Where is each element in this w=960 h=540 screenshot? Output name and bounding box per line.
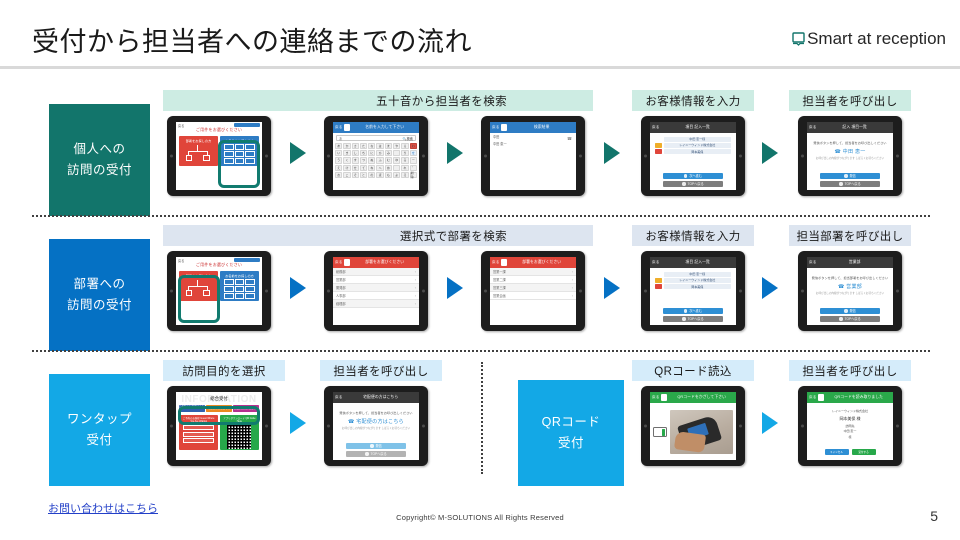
result-body: 中田 中田 恵一 ☎ — [490, 133, 576, 190]
tile-department[interactable]: 部署をお探しの方 — [179, 136, 218, 166]
dial-button[interactable]: 発信 — [820, 173, 880, 179]
call-buttons: 発信 TOPへ戻る — [820, 173, 880, 187]
call-sub: お呼び出しの内線がつながります しばらくお待ちください — [337, 427, 415, 431]
org-chart-icon — [185, 145, 212, 163]
category-line-2: 受付 — [86, 430, 112, 451]
list-item[interactable]: 開発部› — [333, 284, 419, 292]
list-item[interactable]: 営業三課› — [490, 284, 576, 292]
button-label: TOPへ戻る — [845, 181, 861, 186]
step-band-search-kana: 五十音から担当者を検索 — [163, 90, 593, 111]
tile-caption: お名前をお探しの方 — [220, 136, 259, 143]
tablet-qr-reader[interactable]: 戻る QRコードをかざして下さい — [641, 386, 745, 466]
screen-title: 項目 記入一覧 — [661, 260, 734, 265]
step-band-label: お客様情報を入力 — [645, 93, 740, 109]
category-line-1: 個人への — [73, 139, 125, 160]
call-body: 発信ボタンを押して、担当部署をお呼び出しください ☎ 営業部 お呼び出しの内線が… — [807, 268, 893, 325]
page-number: 5 — [930, 508, 938, 524]
hand-shape — [674, 431, 707, 453]
screen-call: 戻る 記入 項目一覧 発信ボタンを押して、担当者をお呼び出しください ☎ 中田 … — [807, 122, 893, 190]
keyboard-body: あ 🔍検索 あかさたなはまやらわ いきしちにひみりを うくすつぬふむゆるー えけ… — [333, 133, 419, 190]
search-button[interactable]: 🔍検索 — [403, 136, 413, 141]
tile-caption: 部署をお探しの方 — [179, 136, 218, 143]
tablet-department-list[interactable]: 戻る 部署をお選びください 総務部› 営業部› 開発部› 人事部› 経理部› — [324, 251, 428, 331]
row-divider-1 — [32, 215, 930, 217]
tablet-qr-confirm[interactable]: 戻る QRコードを読み取りました レイニーウィンド株式会社 岡本美保 様 訪問先… — [798, 386, 902, 466]
chevron-right-icon: › — [572, 278, 573, 282]
field-value[interactable]: 岡本美保 — [664, 149, 732, 154]
tablet-call-person[interactable]: 戻る 記入 項目一覧 発信ボタンを押して、担当者をお呼び出しください ☎ 中田 … — [798, 116, 902, 196]
bullet-icon — [370, 444, 373, 447]
pane-app-download: アプリダウンロード QR Code Here — [220, 415, 259, 450]
camera-preview — [670, 410, 733, 454]
tablet-call-delivery[interactable]: 戻る 宅配便の方はこちら 発信ボタンを押して、担当者をお呼び出しください ☎ 宅… — [324, 386, 428, 466]
category-label-onetap: ワンタップ 受付 — [49, 374, 150, 486]
flow-row-personal: 個人への 訪問の受付 五十音から担当者を検索 お客様情報を入力 担当者を呼び出し… — [0, 90, 960, 216]
purpose-button-delivery[interactable]: 宅配便の方はこちら — [206, 405, 232, 412]
top-button[interactable]: TOPへ戻る — [820, 181, 880, 187]
brand-name: Smart at reception — [807, 29, 946, 49]
step-band-label: 訪問目的を選択 — [182, 363, 265, 379]
list-icon — [501, 124, 507, 131]
button-label: TOPへ戻る — [688, 316, 704, 321]
tablet-one-tap-reception[interactable]: INFORMATION 総合受付 ご予約のお客様はこちら 宅配便の方はこちら 営… — [167, 386, 271, 466]
confirm-company: レイニーウィンド株式会社 — [815, 409, 885, 415]
back-button[interactable]: 戻る — [809, 395, 816, 400]
screen-titlebar: 戻る 宅配便の方はこちら — [333, 392, 419, 403]
step-band-label: 五十音から担当者を検索 — [376, 93, 507, 109]
search-input[interactable]: あ 🔍検索 — [336, 135, 416, 141]
call-body: 発信ボタンを押して、担当者をお呼び出しください ☎ 中田 恵一 お呼び出しの内線… — [807, 133, 893, 190]
field-value[interactable]: 中田 恵一様 — [664, 137, 732, 142]
status-pill — [234, 258, 260, 262]
bullet-icon — [839, 317, 842, 320]
screen-title: QRコードを読み取りました — [826, 395, 891, 400]
screen-home: 戻る ご用件をお選びください 部署をお探しの方 — [176, 122, 262, 190]
next-button[interactable]: 次へ進む — [663, 173, 723, 179]
info-panes: ご予約のお客様 Guest Where You Are Waiting アプリダ… — [176, 412, 262, 452]
button-label: 次へ進む — [689, 308, 702, 313]
flow-arrow — [290, 142, 306, 164]
flow-arrow — [290, 412, 306, 434]
back-label[interactable]: 戻る — [178, 258, 184, 263]
pane-guest: ご予約のお客様 Guest Where You Are Waiting — [179, 415, 218, 450]
screen-title: QRコードをかざして下さい — [669, 395, 734, 400]
form-fields: 中田 恵一様 レイニーウィンド株式会社 岡本美保 — [650, 268, 736, 289]
list-item-label: 人事部 — [336, 293, 346, 298]
list-item[interactable]: 営業一課› — [490, 268, 576, 276]
home-tiles: 部署をお探しの方 お名前をお探しの方 — [176, 268, 262, 301]
home-tiles: 部署をお探しの方 お名前をお探しの方 — [176, 133, 262, 166]
form-row: 岡本美保 — [655, 284, 731, 289]
next-button[interactable]: 次へ進む — [663, 308, 723, 314]
field-tag-required — [655, 278, 662, 282]
button-label: 発信 — [850, 308, 856, 313]
step-band-call-person: 担当者を呼び出し — [789, 90, 911, 111]
screen-list: 戻る 部署をお選びください 総務部› 営業部› 開発部› 人事部› 経理部› — [333, 257, 419, 325]
category-line-2: 訪問の受付 — [67, 160, 132, 181]
form-fields: 中田 恵一様 レイニーウィンド株式会社 岡本美保 — [650, 133, 736, 154]
screen-titlebar: 戻る 名前を入力して下さい — [333, 122, 419, 133]
department-list: 総務部› 営業部› 開発部› 人事部› 経理部› — [333, 268, 419, 308]
flow-arrow — [447, 142, 463, 164]
call-lead: 発信ボタンを押して、担当者をお呼び出しください — [337, 410, 415, 415]
list-item[interactable]: 総務部› — [333, 268, 419, 276]
flow-arrow — [604, 277, 620, 299]
pane-rows — [181, 425, 216, 443]
screen-title: 記入 項目一覧 — [818, 125, 891, 130]
qr-scan-icon — [818, 394, 824, 401]
screen-title: 検索結果 — [509, 125, 574, 130]
button-label: TOPへ戻る — [688, 181, 704, 186]
list-item-label: 経理部 — [336, 301, 346, 306]
phone-scan-icon — [653, 427, 667, 437]
screen-result: 戻る 検索結果 中田 中田 恵一 ☎ — [490, 122, 576, 190]
screen-title: 名前を入力して下さい — [352, 125, 417, 130]
pane-caption: ご予約のお客様 Guest Where You Are Waiting — [181, 417, 216, 424]
top-button[interactable]: TOPへ戻る — [346, 451, 406, 457]
back-button[interactable]: 戻る — [335, 125, 342, 130]
form-row: レイニーウィンド株式会社 — [655, 278, 731, 283]
qr-scan-area — [650, 403, 736, 460]
list-item-label: 営業企画 — [493, 293, 506, 298]
step-band-select-department: 選択式で部署を検索 — [163, 225, 593, 246]
tablet-kana-keyboard[interactable]: 戻る 名前を入力して下さい あ 🔍検索 あかさたなはまやらわ いきしちにひみりを… — [324, 116, 428, 196]
chevron-right-icon: › — [415, 294, 416, 298]
flow-row-department: 部署への 訪問の受付 選択式で部署を検索 お客様情報を入力 担当部署を呼び出し … — [0, 225, 960, 351]
category-label-qr: QRコード 受付 — [518, 380, 624, 486]
screen-one-tap: INFORMATION 総合受付 ご予約のお客様はこちら 宅配便の方はこちら 営… — [176, 392, 262, 460]
qr-code-icon — [227, 425, 251, 449]
call-info: 発信ボタンを押して、担当者をお呼び出しください ☎ 宅配便の方はこちら お呼び出… — [333, 403, 419, 431]
back-button[interactable]: 戻る — [492, 125, 499, 130]
one-tap-wrap: INFORMATION 総合受付 ご予約のお客様はこちら 宅配便の方はこちら 営… — [176, 392, 262, 460]
header-divider — [0, 66, 960, 69]
field-tag — [655, 272, 662, 276]
screen-titlebar: 戻る 部署をお選びください — [490, 257, 576, 268]
tile-caption: お名前をお探しの方 — [220, 271, 259, 278]
screen-titlebar: 戻る 記入 項目一覧 — [807, 122, 893, 133]
screen-titlebar: 戻る 検索結果 — [490, 122, 576, 133]
field-value[interactable]: 中田 恵一様 — [664, 272, 732, 277]
slide-header: 受付から担当者への連絡までの流れ Smart at reception — [0, 0, 960, 68]
category-line-1: QRコード — [542, 412, 601, 433]
form-row: 中田 恵一様 — [655, 137, 731, 142]
list-item-label: 総務部 — [336, 269, 346, 274]
list-item[interactable]: 営業二課› — [490, 276, 576, 284]
field-value[interactable]: レイニーウィンド株式会社 — [664, 143, 732, 148]
screen-call: 戻る 営業部 発信ボタンを押して、担当部署をお呼び出しください ☎ 営業部 お呼… — [807, 257, 893, 325]
confirm-button[interactable]: 受付する — [852, 449, 876, 455]
tablet-call-department[interactable]: 戻る 営業部 発信ボタンを押して、担当部署をお呼び出しください ☎ 営業部 お呼… — [798, 251, 902, 331]
step-band-label: 担当者を呼び出し — [802, 363, 897, 379]
list-item-label: 営業二課 — [493, 277, 506, 282]
flow-arrow — [290, 277, 306, 299]
screen-title: 宅配便の方はこちら — [344, 395, 417, 400]
dial-button[interactable]: 発信 — [820, 308, 880, 314]
flow-arrow — [447, 277, 463, 299]
tile-caption: 部署をお探しの方 — [179, 271, 218, 278]
reception-title: 総合受付 — [176, 392, 262, 402]
button-label: 発信 — [850, 173, 856, 178]
form-body: 中田 恵一様 レイニーウィンド株式会社 岡本美保 — [650, 133, 736, 190]
screen-title: 部署をお選びください — [352, 260, 417, 265]
search-value: あ — [339, 136, 342, 141]
department-sublist: 営業一課› 営業二課› 営業三課› 営業企画› — [490, 268, 576, 300]
step-band-select-purpose: 訪問目的を選択 — [163, 360, 285, 381]
call-target: ☎ 中田 恵一 — [811, 148, 889, 155]
screen-form: 戻る 項目 記入一覧 中田 恵一様 レイニーウィンド株式会社 — [650, 122, 736, 190]
chevron-right-icon: › — [415, 278, 416, 282]
result-line-1: 中田 — [490, 133, 576, 140]
kana-icon — [344, 124, 350, 131]
step-band-label: QRコード読込 — [654, 363, 732, 379]
top-button[interactable]: TOPへ戻る — [820, 316, 880, 322]
org-chart-icon — [185, 280, 212, 298]
screen-home: 戻る ご用件をお選びください 部署をお探しの方 — [176, 257, 262, 325]
field-tag-required — [655, 149, 662, 153]
top-button[interactable]: TOPへ戻る — [663, 316, 723, 322]
back-button[interactable]: 戻る — [652, 125, 659, 130]
qr-confirm-body: レイニーウィンド株式会社 岡本美保 様 訪問先 中田 恵一 様 キャンセル 受付… — [807, 403, 893, 460]
back-button[interactable]: 戻る — [652, 260, 659, 265]
button-label: TOPへ戻る — [371, 451, 387, 456]
call-buttons: 発信 TOPへ戻る — [346, 443, 406, 457]
chevron-right-icon: › — [415, 302, 416, 306]
purpose-button-reserved[interactable]: ご予約のお客様はこちら — [179, 405, 205, 412]
list-item-label: 開発部 — [336, 285, 346, 290]
tile-person[interactable]: お名前をお探しの方 — [220, 271, 259, 301]
tablet-visitor-form-department[interactable]: 戻る 項目 記入一覧 中田 恵一様 レイニーウィンド株式会社 — [641, 251, 745, 331]
step-band-call-person: 担当者を呼び出し — [320, 360, 442, 381]
confirm-buttons: キャンセル 受付する — [817, 449, 883, 455]
screen-list: 戻る 部署をお選びください 営業一課› 営業二課› 営業三課› 営業企画› — [490, 257, 576, 325]
bullet-icon — [365, 452, 368, 455]
button-label: 発信 — [376, 443, 382, 448]
screen-titlebar: 戻る 項目 記入一覧 — [650, 257, 736, 268]
list-body: 営業一課› 営業二課› 営業三課› 営業企画› — [490, 268, 576, 325]
screen-titlebar: 戻る 営業部 — [807, 257, 893, 268]
category-line-1: ワンタップ — [67, 409, 132, 430]
flow-row-onetap-qr: ワンタップ 受付 訪問目的を選択 担当者を呼び出し QRコード読込 担当者を呼び… — [0, 360, 960, 486]
chevron-right-icon: › — [572, 286, 573, 290]
screen-form: 戻る 項目 記入一覧 中田 恵一様 レイニーウィンド株式会社 — [650, 257, 736, 325]
form-row: レイニーウィンド株式会社 — [655, 143, 731, 148]
category-line-2: 受付 — [558, 433, 584, 454]
tablet-home-personal[interactable]: 戻る ご用件をお選びください 部署をお探しの方 — [167, 116, 271, 196]
call-lead: 発信ボタンを押して、担当者をお呼び出しください — [811, 140, 889, 145]
step-band-call-department: 担当部署を呼び出し — [789, 225, 911, 246]
flow-arrow — [762, 142, 778, 164]
purpose-buttons: ご予約のお客様はこちら 宅配便の方はこちら 営業訪問の方はこちら — [176, 402, 262, 412]
category-line-2: 訪問の受付 — [67, 295, 132, 316]
category-label-personal: 個人への 訪問の受付 — [49, 104, 150, 216]
home-body: 戻る ご用件をお選びください 部署をお探しの方 — [176, 257, 262, 325]
step-band-visitor-info: お客様情報を入力 — [632, 225, 754, 246]
tablet-department-sublist[interactable]: 戻る 部署をお選びください 営業一課› 営業二課› 営業三課› 営業企画› — [481, 251, 585, 331]
page-title: 受付から担当者への連絡までの流れ — [32, 20, 472, 59]
step-band-call-person-qr: 担当者を呼び出し — [789, 360, 911, 381]
field-tag — [655, 137, 662, 141]
call-info: 発信ボタンを押して、担当部署をお呼び出しください ☎ 営業部 お呼び出しの内線が… — [807, 268, 893, 296]
chevron-right-icon: › — [572, 270, 573, 274]
button-label: TOPへ戻る — [845, 316, 861, 321]
dial-button[interactable]: 発信 — [346, 443, 406, 449]
confirm-visitor: 岡本美保 様 — [815, 416, 885, 422]
list-item-label: 営業部 — [336, 277, 346, 282]
call-sub: お呼び出しの内線がつながります しばらくお待ちください — [811, 157, 889, 161]
screen-titlebar: 戻る QRコードを読み取りました — [807, 392, 893, 403]
list-item-label: 営業一課 — [493, 269, 506, 274]
field-value[interactable]: 岡本美保 — [664, 284, 732, 289]
bullet-icon — [839, 182, 842, 185]
list-item[interactable]: 人事部› — [333, 292, 419, 300]
result-line-2[interactable]: 中田 恵一 — [490, 140, 576, 147]
screen-qr-confirm: 戻る QRコードを読み取りました レイニーウィンド株式会社 岡本美保 様 訪問先… — [807, 392, 893, 460]
kana-keypad[interactable]: あかさたなはまやらわ いきしちにひみりを うくすつぬふむゆるー えけせてねへめれ… — [333, 143, 419, 180]
call-body: 発信ボタンを押して、担当者をお呼び出しください ☎ 宅配便の方はこちら お呼び出… — [333, 403, 419, 460]
step-band-label: 選択式で部署を検索 — [400, 228, 507, 244]
tablet-search-result[interactable]: 戻る 検索結果 中田 中田 恵一 ☎ — [481, 116, 585, 196]
back-button[interactable]: 戻る — [809, 260, 816, 265]
cancel-button[interactable]: キャンセル — [825, 449, 849, 455]
one-tap-body: INFORMATION 総合受付 ご予約のお客様はこちら 宅配便の方はこちら 営… — [176, 392, 262, 460]
column-divider — [481, 362, 483, 474]
qr-reader-body — [650, 403, 736, 460]
qr-confirm-info: レイニーウィンド株式会社 岡本美保 様 訪問先 中田 恵一 様 キャンセル 受付… — [807, 403, 893, 441]
back-button[interactable]: 戻る — [335, 395, 342, 400]
step-band-qr-read: QRコード読込 — [632, 360, 754, 381]
step-band-label: 担当部署を呼び出し — [796, 228, 903, 244]
back-label[interactable]: 戻る — [178, 123, 184, 128]
pane-caption: アプリダウンロード QR Code Here — [222, 417, 257, 424]
list-item[interactable]: 経理部› — [333, 300, 419, 308]
screen-keyboard: 戻る 名前を入力して下さい あ 🔍検索 あかさたなはまやらわ いきしちにひみりを… — [333, 122, 419, 190]
bullet-icon — [682, 317, 685, 320]
top-button[interactable]: TOPへ戻る — [663, 181, 723, 187]
back-button[interactable]: 戻る — [335, 260, 342, 265]
phone-icon: ☎ — [567, 136, 572, 141]
tablet-device-icon — [792, 32, 805, 46]
status-pill — [234, 123, 260, 127]
list-item-label: 営業三課 — [493, 285, 506, 290]
bullet-icon — [684, 174, 687, 177]
screen-titlebar: 戻る 項目 記入一覧 — [650, 122, 736, 133]
step-band-label: 担当者を呼び出し — [802, 93, 897, 109]
list-item[interactable]: 営業企画› — [490, 292, 576, 300]
screen-call: 戻る 宅配便の方はこちら 発信ボタンを押して、担当者をお呼び出しください ☎ 宅… — [333, 392, 419, 460]
purpose-button-sales[interactable]: 営業訪問の方はこちら — [233, 405, 259, 412]
bullet-icon — [844, 174, 847, 177]
home-body: 戻る ご用件をお選びください 部署をお探しの方 — [176, 122, 262, 190]
field-tag-required — [655, 143, 662, 147]
chevron-right-icon: › — [572, 294, 573, 298]
bullet-icon — [844, 309, 847, 312]
screen-title: 営業部 — [818, 260, 891, 265]
org-chart-icon — [344, 259, 350, 266]
list-item[interactable]: 営業部› — [333, 276, 419, 284]
list-body: 総務部› 営業部› 開発部› 人事部› 経理部› — [333, 268, 419, 325]
screen-qr-reader: 戻る QRコードをかざして下さい — [650, 392, 736, 460]
form-row: 岡本美保 — [655, 149, 731, 154]
call-target: ☎ 営業部 — [811, 283, 889, 290]
slide: 受付から担当者への連絡までの流れ Smart at reception 個人への… — [0, 0, 960, 540]
qr-scan-icon — [661, 394, 667, 401]
copyright-text: Copyright© M-SOLUTIONS All Rights Reserv… — [0, 513, 960, 522]
flow-arrow — [762, 412, 778, 434]
row-divider-2 — [32, 350, 930, 352]
button-label: 次へ進む — [689, 173, 702, 178]
screen-title: 項目 記入一覧 — [661, 125, 734, 130]
tile-person[interactable]: お名前をお探しの方 — [220, 136, 259, 166]
step-band-label: 担当者を呼び出し — [333, 363, 428, 379]
chevron-right-icon: › — [415, 270, 416, 274]
confirm-suffix: 様 — [815, 435, 885, 441]
screen-titlebar: 戻る 部署をお選びください — [333, 257, 419, 268]
brand-logo: Smart at reception — [792, 29, 946, 49]
flow-arrow — [604, 142, 620, 164]
screen-titlebar: 戻る QRコードをかざして下さい — [650, 392, 736, 403]
kana-grid-icon — [224, 279, 255, 299]
bullet-icon — [682, 182, 685, 185]
call-lead: 発信ボタンを押して、担当部署をお呼び出しください — [811, 275, 889, 280]
back-button[interactable]: 戻る — [492, 260, 499, 265]
field-value[interactable]: レイニーウィンド株式会社 — [664, 278, 732, 283]
screen-title: 部署をお選びください — [509, 260, 574, 265]
bullet-icon — [684, 309, 687, 312]
step-band-visitor-info: お客様情報を入力 — [632, 90, 754, 111]
category-label-department: 部署への 訪問の受付 — [49, 239, 150, 351]
back-button[interactable]: 戻る — [652, 395, 659, 400]
org-chart-icon — [501, 259, 507, 266]
tablet-visitor-form-personal[interactable]: 戻る 項目 記入一覧 中田 恵一様 レイニーウィンド株式会社 — [641, 116, 745, 196]
field-tag-required — [655, 284, 662, 288]
category-line-1: 部署への — [73, 274, 125, 295]
form-buttons: 次へ進む TOPへ戻る — [663, 173, 723, 187]
call-buttons: 発信 TOPへ戻る — [820, 308, 880, 322]
tablet-home-department[interactable]: 戻る ご用件をお選びください 部署をお探しの方 — [167, 251, 271, 331]
form-row: 中田 恵一様 — [655, 272, 731, 277]
form-body: 中田 恵一様 レイニーウィンド株式会社 岡本美保 — [650, 268, 736, 325]
call-info: 発信ボタンを押して、担当者をお呼び出しください ☎ 中田 恵一 お呼び出しの内線… — [807, 133, 893, 161]
back-button[interactable]: 戻る — [809, 125, 816, 130]
tile-department[interactable]: 部署をお探しの方 — [179, 271, 218, 301]
chevron-right-icon: › — [415, 286, 416, 290]
call-sub: お呼び出しの内線がつながります しばらくお待ちください — [811, 292, 889, 296]
step-band-label: お客様情報を入力 — [645, 228, 740, 244]
call-target: ☎ 宅配便の方はこちら — [337, 418, 415, 425]
flow-arrow — [762, 277, 778, 299]
kana-grid-icon — [224, 144, 255, 164]
form-buttons: 次へ進む TOPへ戻る — [663, 308, 723, 322]
